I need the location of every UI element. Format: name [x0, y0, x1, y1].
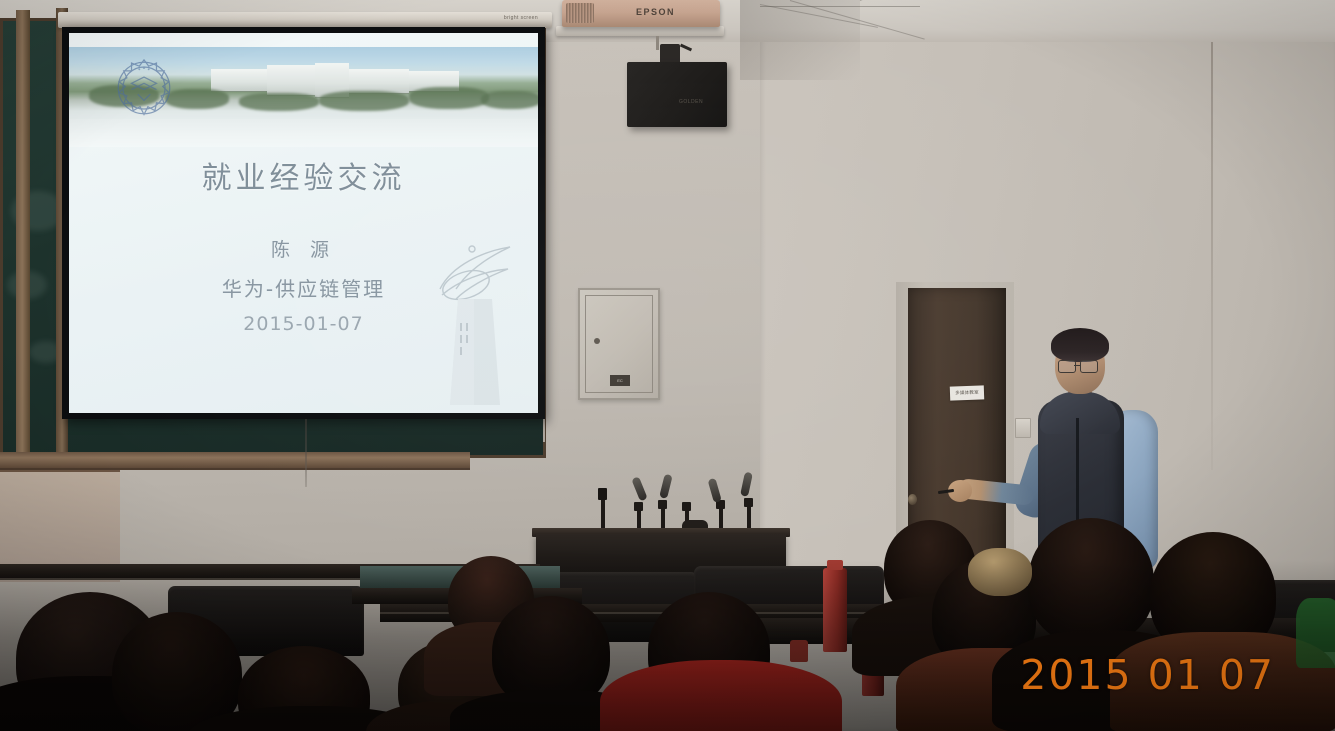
ceiling-corner-shadow	[740, 0, 860, 80]
screen-drop-cord[interactable]	[305, 419, 307, 487]
screen-roller-housing: bright screen	[58, 12, 552, 28]
camera-timestamp: 2015 01 07	[1020, 651, 1275, 699]
cup-1[interactable]	[790, 640, 808, 662]
thermos-bottle-1[interactable]	[823, 568, 847, 652]
chalk-ledge	[0, 452, 470, 470]
presenter-hood	[1040, 392, 1120, 434]
thermos-cap-1	[827, 560, 843, 570]
cabinet-lock-icon[interactable]	[594, 338, 600, 344]
speaker-bracket	[660, 44, 680, 64]
chalkboard-frame-left	[16, 10, 30, 480]
lecture-hall-photo: bright screen	[0, 0, 1335, 731]
door-sign: 多媒体教室	[950, 385, 984, 400]
slide-title: 就业经验交流	[69, 153, 538, 197]
audience-green-sleeve	[1296, 598, 1335, 668]
audience-head-12-blonde	[968, 548, 1032, 596]
door-knob-icon[interactable]	[908, 494, 917, 505]
cabinet-label: EC	[610, 375, 630, 386]
presenter-hair	[1051, 328, 1109, 362]
screen-housing-label: bright screen	[504, 15, 538, 21]
speaker-mount-stem	[656, 36, 659, 50]
glasses-right-lens-icon	[1080, 360, 1098, 373]
speaker-brand-label: GOLDEN	[679, 99, 703, 105]
wall-speaker: GOLDEN	[627, 62, 727, 127]
projection-screen: 就业经验交流 陈 源 华为-供应链管理 2015-01-07	[62, 27, 545, 419]
audience-head-10	[1028, 518, 1154, 644]
audience-head-2	[112, 612, 242, 731]
wall-utility-cabinet[interactable]: EC	[578, 288, 660, 400]
slide-surface: 就业经验交流 陈 源 华为-供应链管理 2015-01-07	[69, 33, 538, 413]
glasses-bridge-icon	[1074, 365, 1080, 366]
projector: EPSON	[562, 0, 720, 27]
campus-monument-icon	[422, 237, 526, 407]
wall-corner-seam	[1211, 0, 1213, 470]
audience-red-jacket	[600, 660, 842, 731]
projector-vent-icon	[566, 3, 594, 23]
university-seal-icon	[105, 49, 183, 127]
projector-brand-label: EPSON	[636, 7, 675, 17]
mic-receiver-box	[598, 488, 607, 500]
projector-mount-plate	[556, 26, 724, 36]
glasses-left-lens-icon	[1058, 360, 1076, 373]
